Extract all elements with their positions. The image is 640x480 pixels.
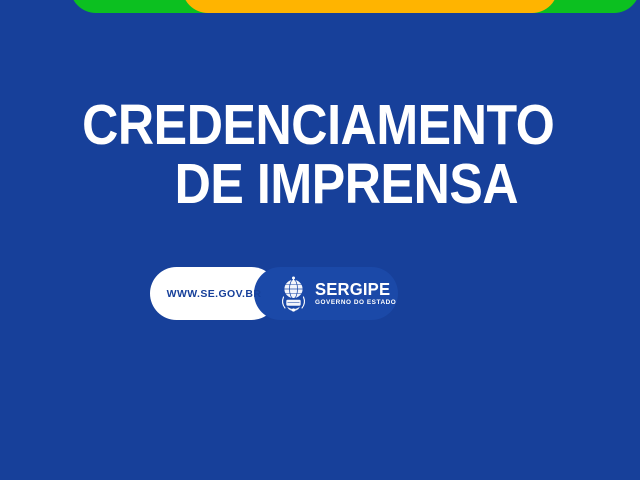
sergipe-brand-lockup: SERGIPE GOVERNO DO ESTADO [278,267,398,320]
website-url-label[interactable]: WWW.SE.GOV.BR [150,267,278,320]
top-bar-yellow-shape [182,0,558,13]
brand-subtitle: GOVERNO DO ESTADO [315,300,396,306]
page-title-line-2: DE IMPRENSA [91,155,601,214]
sergipe-coat-of-arms-icon [278,275,309,314]
logo-pill[interactable]: WWW.SE.GOV.BR [150,267,398,320]
top-decorative-bar [0,0,640,13]
page-title: CREDENCIAMENTO DE IMPRENSA [38,96,601,214]
poster-canvas: CREDENCIAMENTO DE IMPRENSA WWW.SE.GOV.BR [0,0,640,480]
brand-text-block: SERGIPE GOVERNO DO ESTADO [315,281,396,307]
page-title-line-1: CREDENCIAMENTO [35,96,602,155]
brand-name: SERGIPE [315,281,392,299]
